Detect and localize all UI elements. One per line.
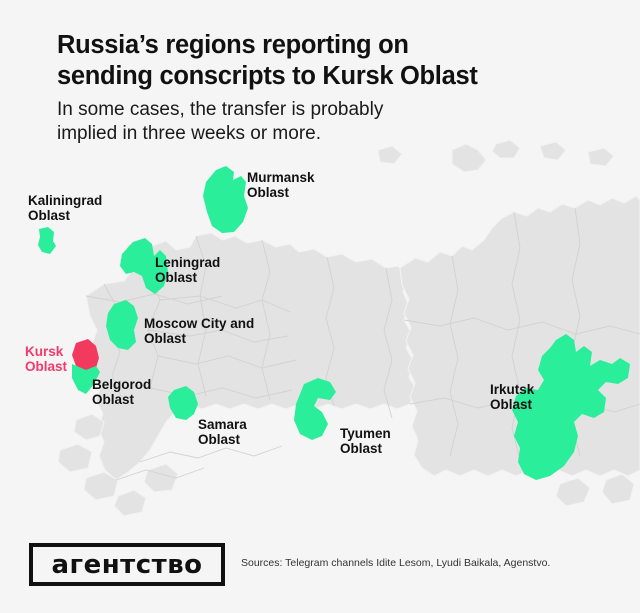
page-title: Russia’s regions reporting on sending co… — [57, 30, 577, 92]
map-label-moscow: Moscow City and Oblast — [144, 316, 254, 347]
region-shape — [452, 144, 486, 172]
infographic-page: Russia’s regions reporting on sending co… — [0, 0, 640, 613]
region-shape — [114, 490, 146, 516]
sources-note: Sources: Telegram channels Idite Lesom, … — [241, 557, 550, 570]
agentstvo-logo-text: агентство — [51, 552, 202, 578]
map-label-kursk: Kursk Oblast — [25, 344, 67, 375]
agentstvo-logo: агентство — [29, 543, 225, 586]
murmansk-shape — [203, 166, 248, 233]
region-shape — [378, 146, 402, 164]
map-label-leningrad: Leningrad Oblast — [155, 255, 220, 286]
region-shape — [74, 414, 104, 440]
page-subtitle: In some cases, the transfer is probably … — [57, 98, 577, 146]
map-label-murmansk: Murmansk Oblast — [247, 170, 315, 201]
region-shape — [144, 464, 178, 492]
kaliningrad-shape — [38, 227, 56, 254]
map-label-samara: Samara Oblast — [198, 417, 247, 448]
map-label-belgorod: Belgorod Oblast — [92, 377, 151, 408]
region-shape — [58, 444, 92, 472]
headline-block: Russia’s regions reporting on sending co… — [57, 30, 577, 146]
map-label-irkutsk: Irkutsk Oblast — [490, 382, 534, 413]
map-label-tyumen: Tyumen Oblast — [340, 426, 391, 457]
map-label-kaliningrad: Kaliningrad Oblast — [28, 193, 102, 224]
region-shape — [602, 474, 634, 504]
region-shape — [556, 478, 590, 506]
region-shape — [588, 148, 614, 166]
